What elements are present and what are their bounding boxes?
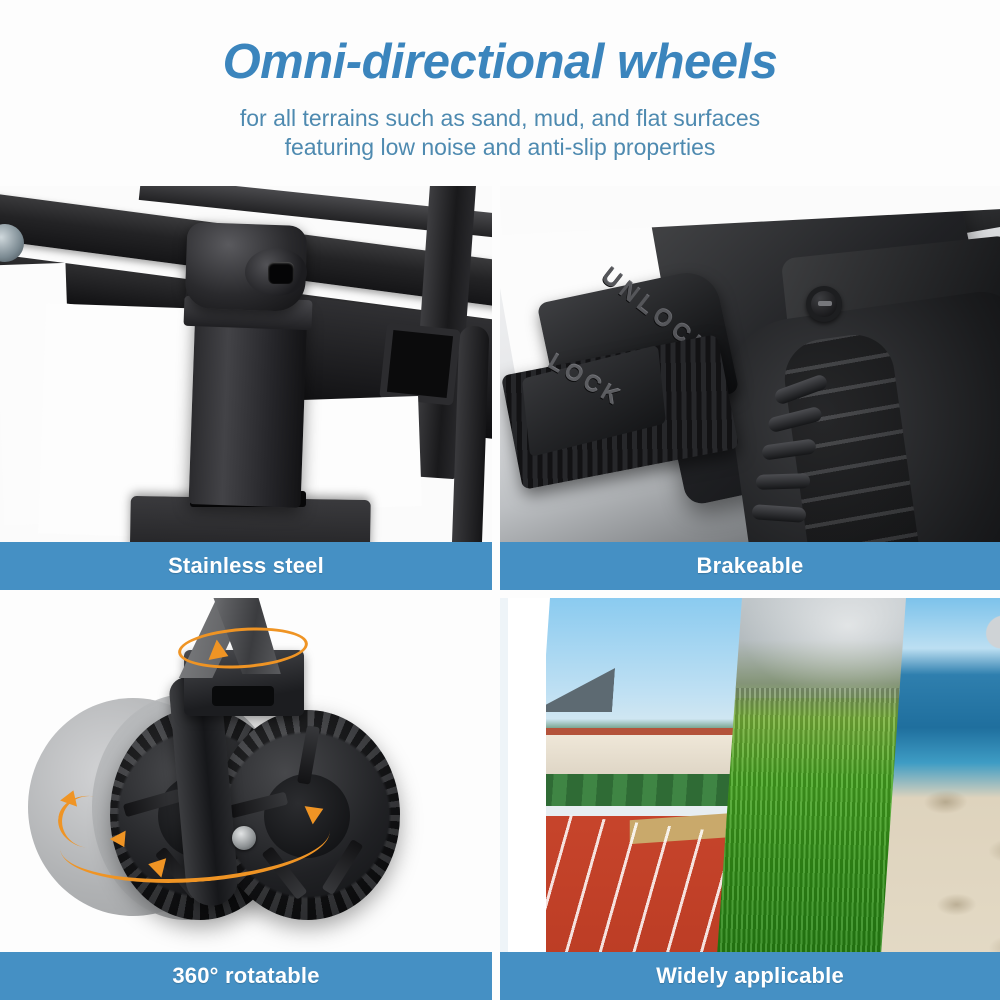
- panel-rotatable: 360° 360° rotatable: [0, 598, 492, 1000]
- panel-widely-applicable: Widely applicable: [500, 598, 1000, 1000]
- panel-caption-stainless-steel: Stainless steel: [0, 542, 492, 590]
- panel-brakeable: UNLOCK LOCK Brakeable: [500, 186, 1000, 590]
- grass-background-blur: [735, 598, 923, 698]
- panel-stainless-steel: Stainless steel: [0, 186, 492, 590]
- stainless-steel-photo: [0, 186, 492, 590]
- bracket-slot: [212, 686, 274, 706]
- page-title: Omni-directional wheels: [223, 38, 778, 87]
- product-infographic: Omni-directional wheels for all terrains…: [0, 0, 1000, 1000]
- header: Omni-directional wheels for all terrains…: [0, 0, 1000, 186]
- rotatable-diagram: [0, 598, 492, 1000]
- photo-highlight-right: [298, 396, 422, 510]
- square-tube-opening: [379, 322, 461, 405]
- page-subtitle: for all terrains such as sand, mud, and …: [240, 104, 760, 163]
- square-post: [189, 304, 308, 508]
- feature-grid: Stainless steel UNLOCK: [0, 186, 1000, 1000]
- shore-rocks: [961, 598, 1000, 664]
- panel-divider: [500, 598, 508, 1000]
- panel-caption-rotatable: 360° rotatable: [0, 952, 492, 1000]
- panel-caption-brakeable: Brakeable: [500, 542, 1000, 590]
- panel-caption-widely-applicable: Widely applicable: [500, 952, 1000, 1000]
- tread-lug: [756, 473, 810, 490]
- brakeable-photo: UNLOCK LOCK: [500, 186, 1000, 590]
- pivot-screw-icon: [806, 286, 842, 322]
- subtitle-line-1: for all terrains such as sand, mud, and …: [240, 105, 760, 131]
- subtitle-line-2: featuring low noise and anti-slip proper…: [240, 133, 760, 162]
- pivot-bore: [268, 262, 294, 284]
- terrain-collage: [500, 598, 1000, 1000]
- tree-line: [535, 774, 747, 808]
